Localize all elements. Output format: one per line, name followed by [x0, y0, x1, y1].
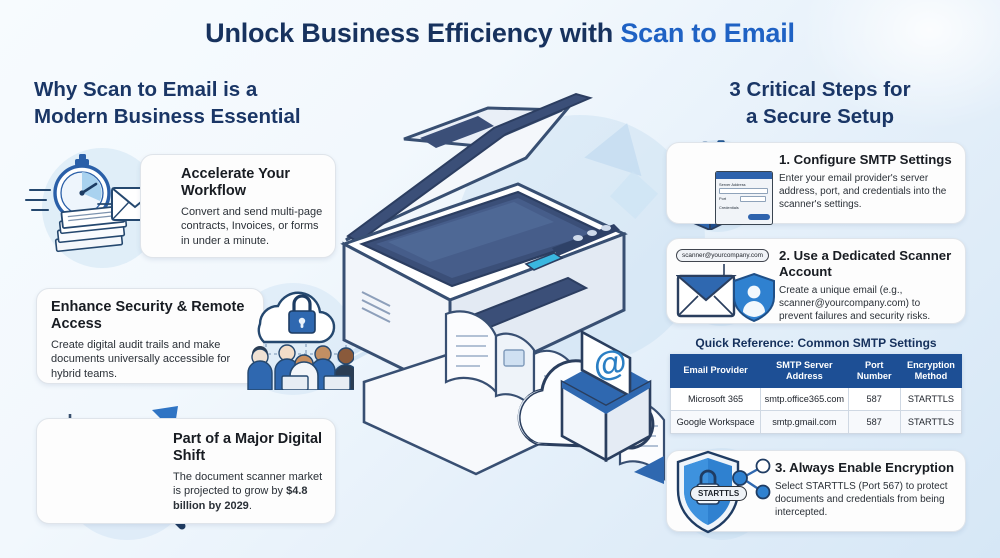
right-column-heading: 3 Critical Steps for a Secure Setup [660, 76, 980, 130]
left-card3-body-post: . [249, 500, 252, 512]
form-input-port[interactable] [740, 196, 766, 202]
left-column-heading: Why Scan to Email is a Modern Business E… [34, 76, 354, 130]
form-label-server-address: Server Address [719, 182, 772, 187]
th-encryption-method: Encryption Method [900, 355, 961, 388]
left-card3-title: Part of a Major Digital Shift [37, 419, 335, 466]
scanner-email-badge: scanner@yourcompany.com [676, 249, 769, 262]
cell-port-2: 587 [848, 410, 900, 433]
cell-provider-1: Microsoft 365 [671, 387, 761, 410]
th-smtp-server-address: SMTP Server Address [761, 355, 848, 388]
left-card1-body: Convert and send multi-page contracts, I… [141, 201, 335, 249]
cell-server-1: smtp.office365.com [761, 387, 848, 410]
cloud-email-at-icon: @ [498, 318, 688, 508]
form-title-bar [716, 172, 772, 179]
starttls-badge: STARTTLS [690, 486, 747, 501]
at-symbol: @ [591, 343, 629, 385]
cell-server-2: smtp.gmail.com [761, 410, 848, 433]
page-title-main: Unlock Business Efficiency with [205, 18, 620, 48]
left-card-accelerate-workflow: Accelerate Your Workflow Convert and sen… [140, 154, 336, 258]
step1-title: 1. Configure SMTP Settings [667, 143, 965, 168]
table-row: Microsoft 365 smtp.office365.com 587 STA… [671, 387, 962, 410]
left-heading-line1: Why Scan to Email is a [34, 76, 354, 103]
cell-encryption-2: STARTTLS [900, 410, 961, 433]
infographic-canvas: Unlock Business Efficiency with Scan to … [0, 0, 1000, 558]
cell-port-1: 587 [848, 387, 900, 410]
envelope-user-shield-icon [676, 262, 778, 322]
form-submit-button[interactable] [748, 214, 770, 220]
step1-body: Enter your email provider's server addre… [667, 168, 965, 212]
form-input-server-address[interactable] [719, 188, 768, 194]
right-heading-line1: 3 Critical Steps for [660, 76, 980, 103]
th-email-provider: Email Provider [671, 355, 761, 388]
cell-encryption-1: STARTTLS [900, 387, 961, 410]
th-port-number: Port Number [848, 355, 900, 388]
right-heading-line2: a Secure Setup [660, 103, 980, 130]
left-card1-title: Accelerate Your Workflow [141, 155, 335, 201]
left-card3-body: The document scanner market is projected… [37, 466, 335, 514]
cell-provider-2: Google Workspace [671, 410, 761, 433]
page-title-accent: Scan to Email [620, 18, 794, 48]
quick-reference-title: Quick Reference: Common SMTP Settings [666, 336, 966, 350]
form-label-credentials: Credentials [719, 205, 772, 210]
page-title: Unlock Business Efficiency with Scan to … [0, 18, 1000, 49]
table-row: Google Workspace smtp.gmail.com 587 STAR… [671, 410, 962, 433]
step-card-configure-smtp: 1. Configure SMTP Settings Enter your em… [666, 142, 966, 224]
left-heading-line2: Modern Business Essential [34, 103, 354, 130]
left-card-digital-shift: Part of a Major Digital Shift The docume… [36, 418, 336, 524]
quick-reference-table: Email Provider SMTP Server Address Port … [670, 354, 962, 434]
smtp-settings-form-icon: Server Address Port Credentials [715, 171, 773, 225]
table-header-row: Email Provider SMTP Server Address Port … [671, 355, 962, 388]
